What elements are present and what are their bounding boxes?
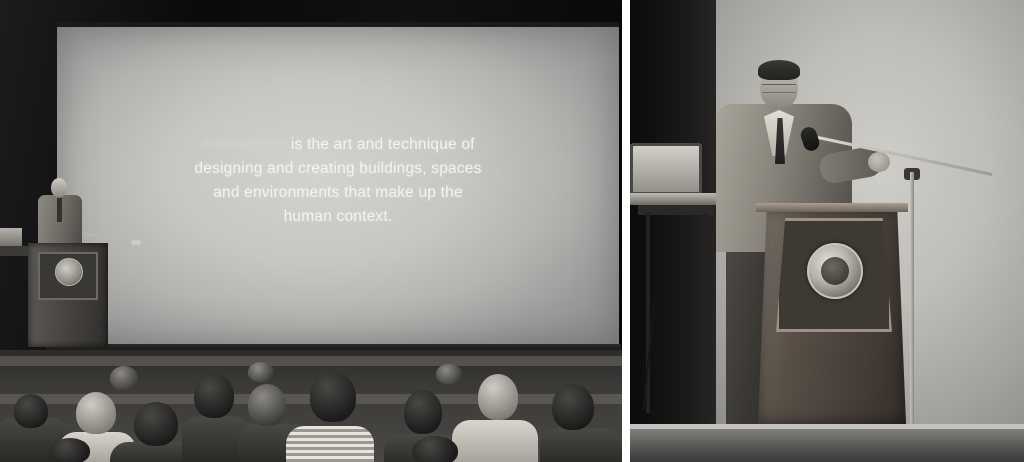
slide-line-2: designing and creating buildings, spaces	[194, 160, 481, 177]
slide-line-4: human context.	[284, 208, 393, 225]
audience-head	[248, 384, 286, 426]
photo-collage: Architecture is the art and technique of…	[0, 0, 1024, 462]
audience-head	[14, 394, 48, 428]
audience-head	[552, 384, 594, 430]
audience-head	[404, 390, 442, 434]
institutional-seal	[55, 258, 83, 286]
eyeglasses-icon	[762, 84, 796, 93]
seated-audience	[0, 350, 622, 462]
audience-head	[110, 366, 138, 390]
necktie	[57, 198, 62, 222]
audience-head	[194, 374, 234, 418]
audience-head	[134, 402, 178, 446]
audience-head	[76, 392, 116, 434]
microphone-stand	[910, 172, 914, 424]
laptop-base	[630, 193, 724, 205]
audience-shoulders	[452, 420, 538, 462]
audience-head	[478, 374, 518, 420]
speaker-hand	[868, 152, 890, 172]
audience-head	[310, 372, 356, 422]
slide-emphasis-word: Architecture	[201, 136, 286, 153]
stage-floor-edge	[630, 424, 1024, 429]
audience-head	[50, 438, 90, 462]
left-panel-wide-view: Architecture is the art and technique of…	[0, 0, 622, 462]
panel-divider	[622, 0, 630, 462]
audience-head	[436, 364, 462, 384]
audience-shoulders	[286, 426, 374, 462]
audience-shoulders	[540, 428, 622, 462]
av-cart-leg	[704, 213, 708, 413]
presenter-laptop	[0, 228, 22, 246]
speaker-head	[51, 178, 67, 197]
institutional-seal	[807, 243, 863, 299]
speaker-hair	[758, 60, 800, 80]
open-laptop	[630, 143, 702, 195]
right-panel-closeup	[630, 0, 1024, 462]
audience-head	[248, 362, 274, 382]
slide-line-3: and environments that make up the	[213, 184, 463, 201]
stage-floor	[630, 424, 1024, 462]
slide-text-block: Architecture is the art and technique of…	[57, 133, 619, 229]
slide-line-1-rest: is the art and technique of	[286, 136, 474, 153]
audience-head	[412, 436, 458, 462]
microphone-icon	[131, 240, 141, 245]
podium-top-surface	[756, 203, 908, 212]
